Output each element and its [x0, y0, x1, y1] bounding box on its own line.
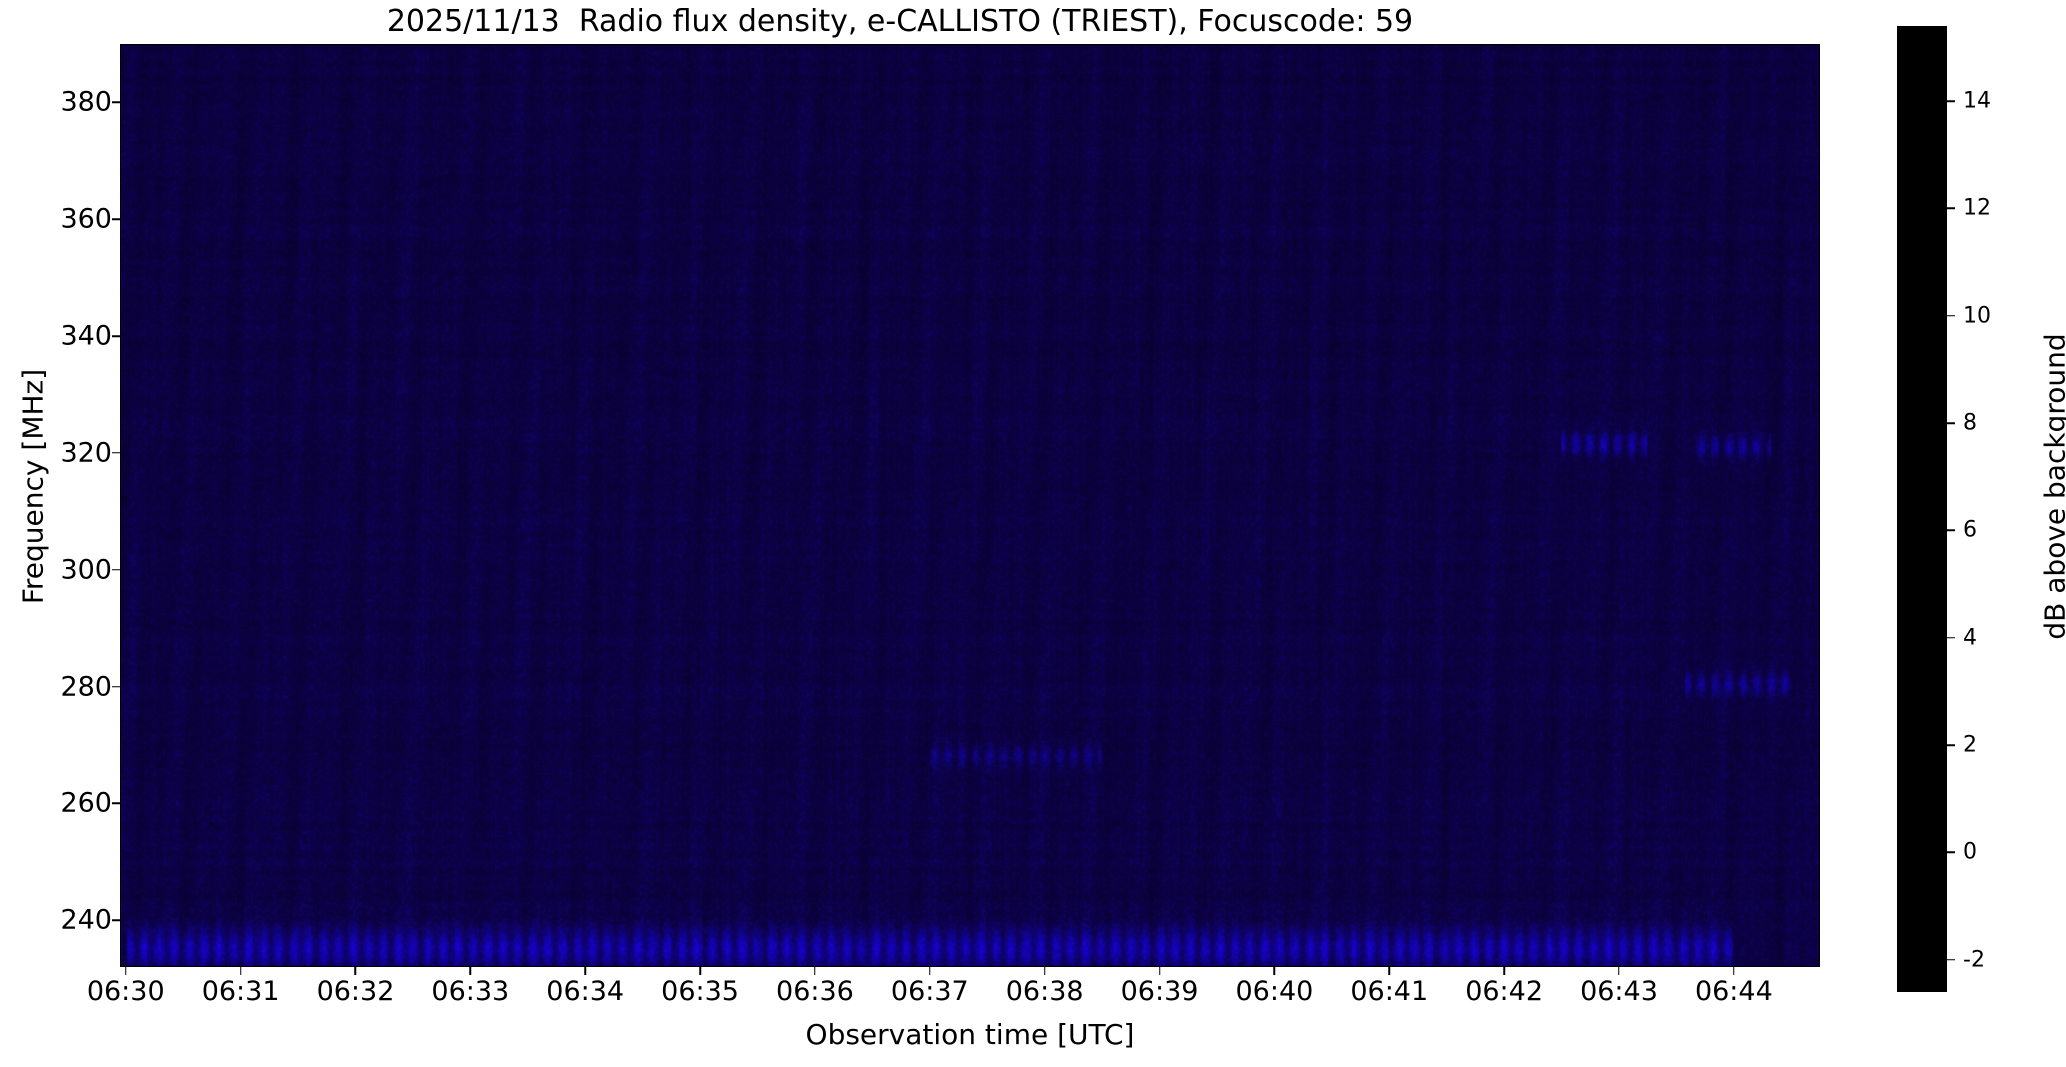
- x-tick-mark: [929, 967, 931, 975]
- colorbar-tick-mark: [1947, 100, 1955, 102]
- x-tick-mark: [240, 967, 242, 975]
- colorbar-tick-mark: [1947, 959, 1955, 961]
- y-tick-label: 340: [60, 321, 112, 352]
- y-tick-label: 380: [60, 87, 112, 118]
- colorbar-tick-label: 6: [1963, 518, 1977, 543]
- y-tick-mark: [112, 569, 120, 571]
- x-tick-mark: [1274, 967, 1276, 975]
- colorbar-tick-label: 2: [1963, 733, 1977, 758]
- y-tick-mark: [112, 686, 120, 688]
- y-tick-label: 240: [60, 905, 112, 936]
- y-tick-mark: [112, 920, 120, 922]
- colorbar: [1897, 26, 1947, 992]
- x-tick-mark: [584, 967, 586, 975]
- x-tick-label: 06:35: [661, 976, 739, 1007]
- chart-title: 2025/11/13 Radio flux density, e-CALLIST…: [0, 4, 1800, 39]
- spectrogram-image: [121, 45, 1819, 966]
- x-tick-label: 06:39: [1121, 976, 1199, 1007]
- y-tick-label: 260: [60, 788, 112, 819]
- colorbar-tick-label: 0: [1963, 840, 1977, 865]
- colorbar-tick-label: 8: [1963, 411, 1977, 436]
- x-tick-label: 06:34: [546, 976, 624, 1007]
- colorbar-tick-mark: [1947, 852, 1955, 854]
- colorbar-tick-mark: [1947, 744, 1955, 746]
- x-tick-mark: [699, 967, 701, 975]
- y-tick-mark: [112, 102, 120, 104]
- x-tick-mark: [1044, 967, 1046, 975]
- x-tick-mark: [1389, 967, 1391, 975]
- colorbar-tick-label: 12: [1963, 196, 1991, 221]
- x-tick-mark: [1503, 967, 1505, 975]
- x-tick-label: 06:36: [776, 976, 854, 1007]
- colorbar-tick-mark: [1947, 530, 1955, 532]
- y-tick-mark: [112, 803, 120, 805]
- x-tick-label: 06:32: [317, 976, 395, 1007]
- x-axis-label: Observation time [UTC]: [120, 1018, 1820, 1051]
- spectrogram-figure: 2025/11/13 Radio flux density, e-CALLIST…: [0, 0, 2066, 1067]
- spectrogram-plot-area[interactable]: [120, 44, 1820, 967]
- colorbar-label: dB above background: [2039, 137, 2066, 837]
- x-tick-label: 06:37: [891, 976, 969, 1007]
- x-tick-label: 06:41: [1350, 976, 1428, 1007]
- x-tick-mark: [1618, 967, 1620, 975]
- y-tick-label: 320: [60, 437, 112, 468]
- x-tick-label: 06:40: [1235, 976, 1313, 1007]
- x-tick-label: 06:31: [202, 976, 280, 1007]
- x-tick-label: 06:44: [1695, 976, 1773, 1007]
- y-tick-mark: [112, 219, 120, 221]
- colorbar-gradient: [1898, 27, 1946, 991]
- colorbar-tick-label: 14: [1963, 89, 1991, 114]
- y-tick-label: 300: [60, 554, 112, 585]
- y-tick-label: 360: [60, 204, 112, 235]
- colorbar-tick-label: -2: [1963, 947, 1985, 972]
- colorbar-tick-mark: [1947, 422, 1955, 424]
- colorbar-tick-mark: [1947, 637, 1955, 639]
- y-tick-mark: [112, 452, 120, 454]
- colorbar-tick-mark: [1947, 208, 1955, 210]
- x-tick-label: 06:30: [87, 976, 165, 1007]
- y-tick-mark: [112, 335, 120, 337]
- x-tick-label: 06:43: [1580, 976, 1658, 1007]
- x-tick-label: 06:33: [431, 976, 509, 1007]
- colorbar-tick-label: 4: [1963, 625, 1977, 650]
- x-tick-label: 06:38: [1006, 976, 1084, 1007]
- colorbar-tick-label: 10: [1963, 303, 1991, 328]
- y-axis-ticks: 240260280300320340360380: [0, 0, 112, 1067]
- x-tick-mark: [125, 967, 127, 975]
- y-tick-label: 280: [60, 671, 112, 702]
- x-tick-mark: [355, 967, 357, 975]
- x-tick-mark: [1159, 967, 1161, 975]
- x-tick-mark: [814, 967, 816, 975]
- colorbar-tick-mark: [1947, 315, 1955, 317]
- x-tick-mark: [470, 967, 472, 975]
- x-tick-label: 06:42: [1465, 976, 1543, 1007]
- x-tick-mark: [1733, 967, 1735, 975]
